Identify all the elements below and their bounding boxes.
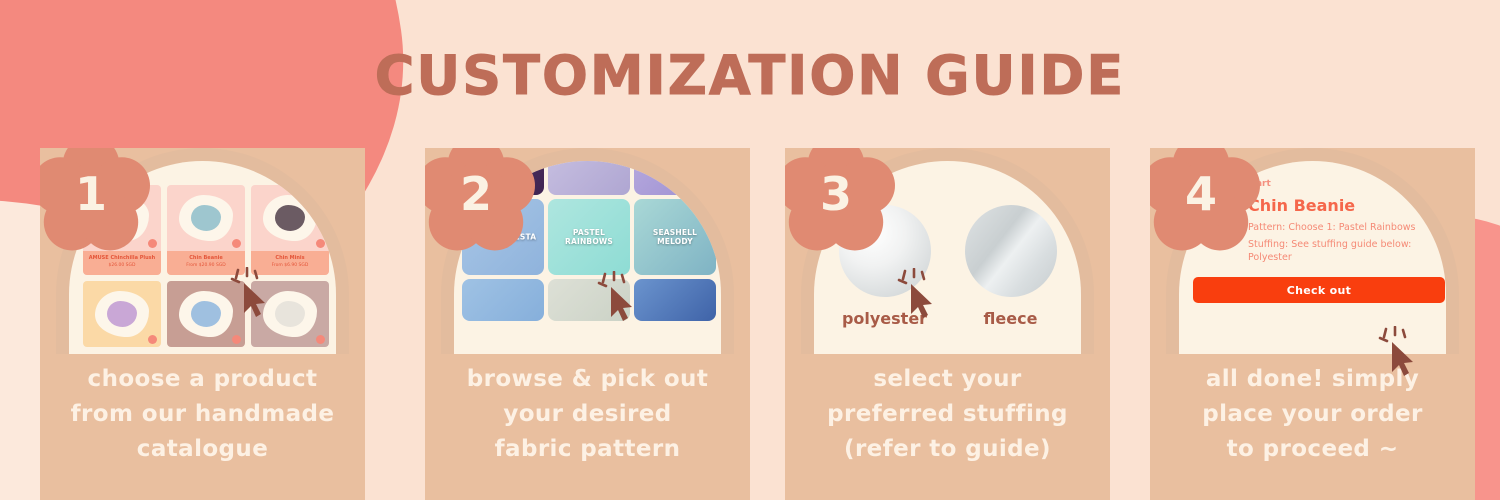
cart-item-info: Chin Beanie Pattern: Choose 1: Pastel Ra… — [1248, 197, 1445, 268]
product-image-blob — [179, 195, 233, 241]
fabric-tile[interactable] — [634, 279, 716, 321]
product-image-blob — [179, 291, 233, 337]
product-tile[interactable] — [83, 281, 161, 347]
product-image — [83, 281, 161, 347]
step-number: 4 — [1150, 148, 1260, 254]
cart-item-title: Chin Beanie — [1248, 197, 1445, 215]
fabric-label: SEASHELL MELODY — [634, 228, 716, 246]
step-caption-2: browse & pick out your desired fabric pa… — [425, 362, 750, 467]
steps-container: AMUSE Chinchilla Plush $26.00 SGD — [0, 148, 1500, 500]
product-image-blob — [95, 291, 149, 337]
product-meta: AMUSE Chinchilla Plush $26.00 SGD — [83, 251, 161, 275]
step-caption-3: select your preferred stuffing (refer to… — [785, 362, 1110, 467]
stuffing-label: fleece — [965, 309, 1057, 328]
shop-logo-icon — [316, 335, 325, 344]
step-card-2: ALPACA FIESTA PASTEL RAINBOWS SEASHELL M… — [425, 148, 750, 500]
product-thumbnail — [275, 301, 305, 327]
step-card-4: to your cart Chin Beanie Pattern: Choose… — [1150, 148, 1475, 500]
fabric-tile[interactable]: SEASHELL MELODY — [634, 199, 716, 275]
product-name: Chin Beanie — [169, 255, 243, 262]
product-tile[interactable]: Chin Beanie From $20.90 SGD — [167, 185, 245, 275]
fabric-tile[interactable] — [548, 161, 630, 195]
customization-guide-infographic: CUSTOMIZATION GUIDE — [0, 0, 1500, 500]
product-image-blob — [263, 195, 317, 241]
step-card-3: polyester fleece — [785, 148, 1110, 500]
step-number-badge-1: 1 — [40, 148, 150, 254]
product-name: Chin Minis — [253, 255, 327, 262]
product-tile[interactable]: Chin Minis From $6.90 SGD — [251, 185, 329, 275]
step-number: 2 — [425, 148, 535, 254]
fabric-tile[interactable] — [462, 279, 544, 321]
product-price: $26.00 SGD — [85, 262, 159, 269]
step-number: 3 — [785, 148, 895, 254]
product-thumbnail — [107, 301, 137, 327]
fabric-label: PASTEL RAINBOWS — [548, 228, 630, 246]
product-thumbnail — [275, 205, 305, 231]
checkout-button[interactable]: Check out — [1193, 277, 1445, 303]
product-name: AMUSE Chinchilla Plush — [85, 255, 159, 262]
step-card-1: AMUSE Chinchilla Plush $26.00 SGD — [40, 148, 365, 500]
fleece-swatch — [965, 205, 1057, 297]
shop-logo-icon — [232, 239, 241, 248]
product-thumbnail — [191, 301, 221, 327]
stuffing-option-fleece[interactable]: fleece — [965, 205, 1057, 328]
shop-logo-icon — [316, 239, 325, 248]
product-thumbnail — [191, 205, 221, 231]
page-title: CUSTOMIZATION GUIDE — [0, 44, 1500, 107]
step-number: 1 — [40, 148, 150, 254]
cursor-pointer-3 — [897, 268, 943, 320]
cursor-pointer-2 — [597, 271, 643, 323]
cursor-pointer-4 — [1378, 326, 1424, 378]
shop-logo-icon — [232, 335, 241, 344]
cart-item-pattern: Pattern: Choose 1: Pastel Rainbows — [1248, 221, 1445, 234]
fabric-tile[interactable]: PASTEL RAINBOWS — [548, 199, 630, 275]
step-caption-1: choose a product from our handmade catal… — [40, 362, 365, 467]
cursor-pointer-1 — [230, 267, 276, 319]
cart-item-stuffing: Stuffing: See stuffing guide below: Poly… — [1248, 238, 1445, 264]
shop-logo-icon — [148, 335, 157, 344]
fabric-tile[interactable] — [634, 161, 716, 195]
step-caption-4: all done! simply place your order to pro… — [1150, 362, 1475, 467]
product-image — [167, 185, 245, 251]
product-image — [251, 185, 329, 251]
step-number-badge-3: 3 — [785, 148, 895, 254]
step-number-badge-4: 4 — [1150, 148, 1260, 254]
step-number-badge-2: 2 — [425, 148, 535, 254]
